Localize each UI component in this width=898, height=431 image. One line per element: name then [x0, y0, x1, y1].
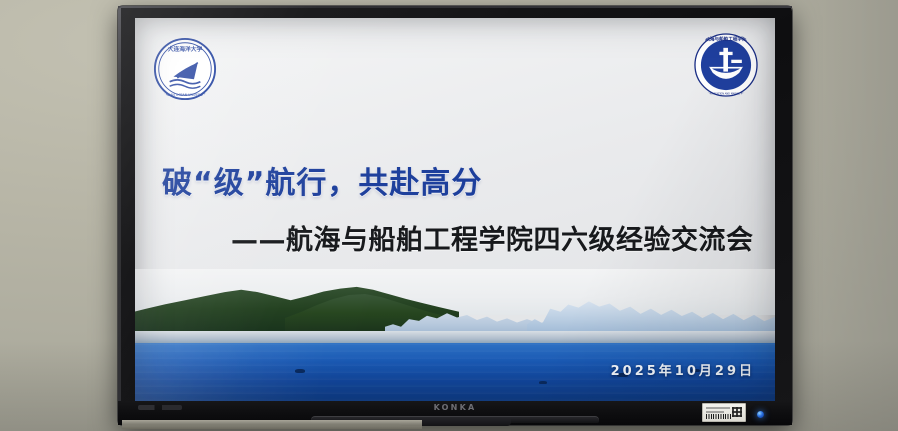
sticker-text-line: [706, 411, 724, 413]
presentation-slide: 大连海洋大学 DALIAN OCEAN UNIVERSITY 航海与船舶工程学院…: [135, 18, 775, 401]
display-screen[interactable]: 大连海洋大学 DALIAN OCEAN UNIVERSITY 航海与船舶工程学院…: [135, 18, 775, 401]
sticker-text-line: [706, 407, 730, 409]
slide-date-stamp: 2025年10月29日: [611, 360, 755, 379]
slide-title-main: 破“级”航行，共赴高分: [162, 158, 482, 202]
display-monitor: 大连海洋大学 DALIAN OCEAN UNIVERSITY 航海与船舶工程学院…: [118, 6, 792, 425]
svg-text:SCHOOL OF NAVIGATION AND MARIN: SCHOOL OF NAVIGATION AND MARINE ENGINEER…: [695, 93, 758, 96]
coastal-campus-bay-photo: 2025年10月29日: [135, 269, 775, 401]
dalian-ocean-university-logo: 大连海洋大学 DALIAN OCEAN UNIVERSITY: [153, 37, 217, 101]
svg-text:DALIAN OCEAN UNIVERSITY: DALIAN OCEAN UNIVERSITY: [163, 93, 207, 97]
photo-boat: [295, 369, 305, 373]
barcode-icon: [706, 414, 732, 419]
brand-label: KONKA: [434, 403, 477, 412]
photo-boat: [539, 381, 547, 384]
qr-code-icon: [732, 407, 742, 417]
power-led-indicator: [757, 411, 764, 418]
slide-title-subtitle: ——航海与船舶工程学院四六级经验交流会: [231, 218, 754, 257]
school-of-navigation-logo: 航海与船舶工程学院 SCHOOL OF NAVIGATION AND MARIN…: [693, 32, 759, 98]
io-ports[interactable]: [138, 405, 182, 410]
bezel-edge-top: [118, 6, 792, 8]
room-scene: 大连海洋大学 DALIAN OCEAN UNIVERSITY 航海与船舶工程学院…: [0, 0, 898, 431]
asset-sticker: [702, 403, 746, 422]
wall-mount-rail: [122, 420, 422, 429]
bezel-edge-left: [118, 6, 121, 425]
